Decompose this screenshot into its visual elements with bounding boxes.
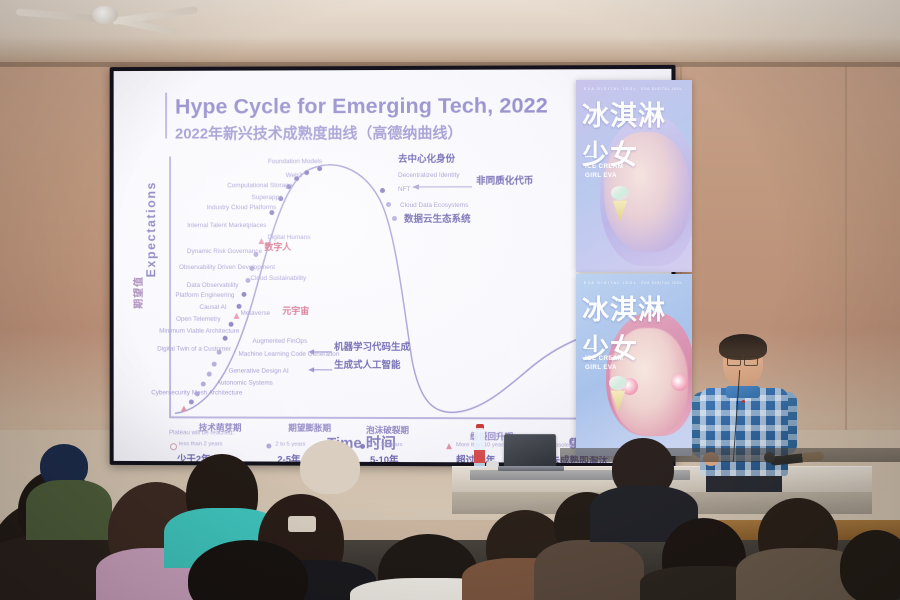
marker-augmented-finops bbox=[207, 372, 212, 377]
audience-member bbox=[840, 530, 900, 600]
marker-metaverse bbox=[234, 313, 240, 319]
marker-data-observability bbox=[242, 292, 247, 297]
legend-marker-5-to-10-years bbox=[360, 444, 365, 449]
audience-member bbox=[300, 440, 360, 494]
legend-title: Plateau will be reached: bbox=[169, 429, 234, 436]
marker-digital-twin-customer bbox=[212, 362, 217, 367]
legend-label-2-to-5-years: 2 to 5 years bbox=[275, 442, 305, 448]
poster-top-en-title: ICE CREAM GIRL EVA bbox=[585, 162, 631, 180]
label-digital-humans: Digital Humans bbox=[267, 234, 310, 242]
marker-ml-code-generation bbox=[201, 382, 206, 387]
annotation-nft-cn: 非同质化代币 bbox=[476, 178, 533, 186]
bottle-label bbox=[474, 450, 485, 463]
phase-label-trough-of-disillusionment: 泡沫破裂期 bbox=[366, 424, 409, 436]
poster-top-logo: EVA DIGITAL IDOL bbox=[641, 87, 683, 91]
marker-decentralized-identity bbox=[380, 188, 385, 193]
label-cybersecurity-mesh-architecture: Cybersecurity Mesh Architecture bbox=[151, 389, 203, 397]
marker-open-telemetry bbox=[223, 336, 228, 341]
label-digital-twin-of-customer: Digital Twin of a Customer bbox=[157, 346, 216, 353]
legend-marker-less-than-2-years bbox=[170, 443, 177, 450]
marker-cloud-data-ecosystems bbox=[392, 216, 397, 221]
hair-clip bbox=[288, 516, 316, 532]
annotation-ml-code-generation-cn: 机器学习代码生成 bbox=[334, 344, 410, 352]
label-autonomic-systems: Autonomic Systems bbox=[217, 380, 273, 388]
annotation-metaverse-cn: 元宇宙 bbox=[282, 308, 309, 316]
label-augmented-finops: Augmented FinOps bbox=[252, 338, 307, 346]
arrow-icon bbox=[308, 348, 332, 356]
label-nft: NFT bbox=[398, 186, 410, 194]
label-cloud-sustainability: Cloud Sustainability bbox=[250, 275, 306, 283]
arrow-icon bbox=[308, 366, 332, 374]
label-causal-ai: Causal AI bbox=[179, 304, 227, 312]
legend-label-5-to-10-years-cn: 5-10年 bbox=[370, 452, 398, 463]
marker-web3 bbox=[304, 170, 309, 175]
poster-bottom-logo: EVA DIGITAL IDOL bbox=[641, 281, 683, 285]
poster-top: EVA DIGITAL IDOL EVA DIGITAL IDOL 冰淇淋少女 … bbox=[576, 80, 692, 272]
marker-causal-ai bbox=[229, 322, 234, 327]
legend-label-2-to-5-years-cn: 2-5年 bbox=[277, 452, 300, 464]
laptop-screen[interactable] bbox=[504, 434, 556, 467]
poster-bottom-en-title: ICE CREAM GIRL EVA bbox=[585, 354, 631, 372]
legend-label-5-to-10-years: 5 to 10 years bbox=[369, 442, 402, 448]
annotation-generative-ai-cn: 生成式人工智能 bbox=[334, 362, 400, 370]
lecture-hall-scene: Hype Cycle for Emerging Tech, 2022 2022年… bbox=[0, 0, 900, 600]
label-open-telemetry: Open Telemetry bbox=[165, 316, 221, 324]
annotation-decentralized-identity-cn: 去中心化身份 bbox=[398, 156, 455, 164]
label-generative-design-ai: Generative Design AI bbox=[229, 368, 289, 376]
eyeglasses-icon bbox=[727, 356, 758, 364]
marker-autonomic-systems bbox=[189, 399, 194, 404]
laptop-keyboard[interactable] bbox=[498, 466, 564, 471]
wall-seam bbox=[845, 62, 847, 462]
audience-member bbox=[534, 540, 644, 600]
annotation-cloud-data-ecosystems-cn: 数据云生态系统 bbox=[404, 216, 471, 224]
label-industry-cloud-platforms: Industry Cloud Platforms bbox=[183, 204, 276, 212]
label-minimum-viable-architecture: Minimum Viable Architecture bbox=[159, 328, 220, 335]
poster-bottom-kicker: EVA DIGITAL IDOL bbox=[584, 281, 637, 285]
legend-marker-more-than-10-years bbox=[446, 443, 452, 449]
label-web3: Web3 bbox=[233, 172, 303, 180]
label-dynamic-risk-governance: Dynamic Risk Governance bbox=[187, 248, 251, 255]
marker-foundation-models bbox=[317, 166, 322, 171]
label-cloud-data-ecosystems: Cloud Data Ecosystems bbox=[400, 202, 468, 210]
marker-nft bbox=[386, 202, 391, 207]
label-machine-learning-code-generation: Machine Learning Code Generation bbox=[239, 351, 319, 359]
label-data-observability: Data Observability bbox=[175, 282, 239, 290]
marker-cybersecurity-mesh bbox=[181, 405, 187, 411]
poster-top-headline: 冰淇淋少女 bbox=[582, 94, 692, 172]
arrow-icon bbox=[412, 183, 472, 191]
label-decentralized-identity: Decentralized Identity bbox=[398, 172, 460, 180]
label-metaverse: Metaverse bbox=[241, 310, 271, 318]
audience-member bbox=[26, 480, 112, 540]
annotation-digital-humans-cn: 数字人 bbox=[264, 244, 291, 252]
legend-label-less-than-2-years: less than 2 years bbox=[179, 441, 222, 447]
legend-marker-2-to-5-years bbox=[266, 444, 271, 449]
label-computational-storage: Computational Storage bbox=[199, 182, 292, 190]
label-platform-engineering: Platform Engineering bbox=[165, 292, 234, 300]
poster-bottom: EVA DIGITAL IDOL EVA DIGITAL IDOL 冰淇淋少女 … bbox=[576, 274, 692, 456]
label-foundation-models: Foundation Models bbox=[241, 158, 323, 166]
label-superapps: Superapps bbox=[209, 194, 283, 202]
poster-top-kicker: EVA DIGITAL IDOL bbox=[584, 87, 637, 91]
label-internal-talent-marketplaces: Internal Talent Marketplaces bbox=[171, 222, 266, 230]
label-observability-driven-development: Observability Driven Development bbox=[179, 264, 248, 271]
phase-label-peak-inflated-expectations: 期望膨胀期 bbox=[288, 422, 331, 434]
marker-platform-engineering bbox=[237, 304, 242, 309]
computer-mouse[interactable] bbox=[486, 461, 499, 468]
